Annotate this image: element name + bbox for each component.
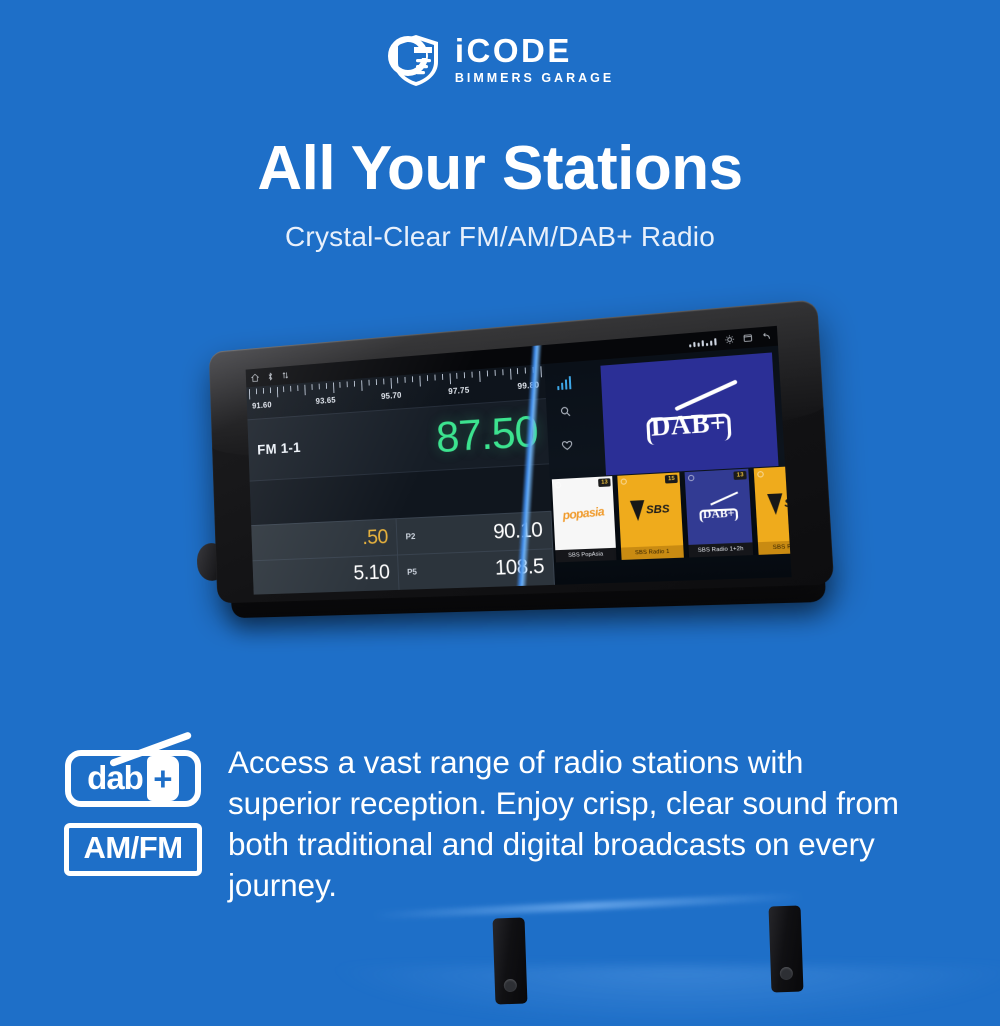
- frequency-tick: [479, 371, 480, 382]
- home-icon[interactable]: [251, 369, 259, 387]
- frequency-tick: [502, 369, 503, 375]
- preset-cell[interactable]: P5108.5: [398, 548, 555, 590]
- frequency-tick: [276, 387, 277, 397]
- amfm-badge: AM/FM: [64, 823, 201, 876]
- frequency-tick: [290, 386, 291, 392]
- station-badge: 13: [734, 471, 747, 480]
- dab-pane[interactable]: DAB+ 13popasiaSBS PopAsia15SBSSBS Radio …: [544, 346, 791, 585]
- bluetooth-icon[interactable]: [267, 368, 275, 386]
- frequency-tick: [419, 376, 420, 387]
- dab-plus-logo-icon: DAB+: [693, 492, 743, 522]
- preset-frequency: 108.5: [494, 555, 544, 581]
- frequency-tick: [525, 367, 526, 373]
- frequency-tick: [449, 373, 450, 384]
- shield-g-icon: [386, 32, 442, 88]
- dab-station-tile[interactable]: 15SBSSBS Radio 1: [617, 472, 684, 560]
- frequency-tick: [361, 380, 362, 391]
- frequency-tick: [434, 375, 435, 381]
- frequency-tick: [326, 383, 327, 389]
- feature-badges: dab + AM/FM: [58, 735, 208, 876]
- frequency-scale-label: 97.75: [448, 385, 470, 396]
- station-artwork: 13popasia: [552, 476, 616, 550]
- touchscreen[interactable]: 91.6093.6595.7097.7599.80 FM 1-1 87.50 .…: [246, 326, 792, 595]
- preset-grid[interactable]: .50P290.105.10P5108.5: [251, 511, 555, 595]
- frequency-tick: [487, 370, 488, 376]
- frequency-tick: [457, 373, 458, 379]
- frequency-tick: [256, 389, 257, 395]
- frequency-tick: [540, 366, 542, 377]
- frequency-tick: [464, 372, 465, 378]
- fm-tuner-pane[interactable]: 91.6093.6595.7097.7599.80 FM 1-1 87.50 .…: [246, 364, 555, 595]
- signal-bars-icon: [557, 376, 572, 390]
- station-name: SBS Radio 1: [621, 545, 684, 560]
- preset-number: P5: [407, 567, 417, 577]
- dab-station-tile[interactable]: 13popasiaSBS PopAsia: [552, 476, 617, 562]
- back-icon[interactable]: [761, 327, 772, 347]
- station-artwork: 15SBS: [617, 472, 683, 547]
- signal-dots-icon: [689, 337, 717, 347]
- frequency-scale-label: 99.80: [517, 379, 539, 391]
- frequency-tick: [368, 380, 369, 386]
- dab-badge-shell: dab +: [65, 750, 201, 807]
- window-icon[interactable]: [742, 328, 753, 347]
- station-name: SBS Radio 1+2h: [688, 542, 753, 557]
- dab-station-tile[interactable]: 13DAB+SBS Radio 1+2h: [685, 469, 754, 558]
- dab-logo-text: DAB+: [631, 406, 746, 444]
- frequency-tick: [427, 375, 428, 381]
- frequency-tick: [270, 387, 271, 393]
- frequency-tick: [304, 385, 305, 396]
- dab-side-toolbar[interactable]: [551, 376, 581, 457]
- frequency-tick: [510, 369, 511, 380]
- preset-cell[interactable]: P290.10: [396, 511, 553, 554]
- sbs-logo: SBS: [630, 499, 670, 521]
- frequency-tick: [405, 377, 406, 383]
- mounting-bracket-right: [769, 905, 804, 992]
- popasia-logo: popasia: [562, 504, 605, 522]
- frequency-tick: [472, 372, 473, 378]
- preset-frequency: 5.10: [353, 561, 390, 586]
- search-icon[interactable]: [559, 404, 572, 423]
- station-name: SBS PopAsia: [555, 548, 616, 563]
- preset-cell[interactable]: .50: [251, 518, 398, 560]
- station-status-dot: [687, 474, 694, 481]
- frequency-tick: [517, 368, 518, 374]
- frequency-tick: [318, 384, 319, 390]
- brand-header: iCODE BIMMERS GARAGE: [0, 32, 1000, 88]
- frequency-tick: [283, 386, 284, 392]
- station-badge: 13: [599, 478, 611, 487]
- brand-wordmark: iCODE BIMMERS GARAGE: [455, 34, 614, 86]
- frequency-scale-label: 91.60: [252, 400, 272, 411]
- frequency-tick: [390, 378, 391, 389]
- device-bezel: 91.6093.6595.7097.7599.80 FM 1-1 87.50 .…: [209, 299, 834, 603]
- frequency-tick: [333, 383, 334, 394]
- dab-plus-logo-icon: DAB+: [630, 381, 747, 448]
- station-status-dot: [554, 481, 560, 487]
- station-artwork: 14SBS: [754, 467, 791, 543]
- frequency-tick: [354, 381, 355, 387]
- device-body: 91.6093.6595.7097.7599.80 FM 1-1 87.50 .…: [202, 289, 852, 626]
- frequency-tick: [340, 382, 341, 388]
- frequency-tick: [533, 367, 534, 373]
- frequency-tick: [412, 376, 413, 382]
- dab-plus-badge: dab +: [65, 735, 201, 807]
- dab-now-playing-art: DAB+: [600, 352, 778, 475]
- brand-tagline: BIMMERS GARAGE: [455, 71, 614, 86]
- brightness-icon[interactable]: [724, 330, 735, 349]
- head-unit-product-image: 91.6093.6595.7097.7599.80 FM 1-1 87.50 .…: [178, 318, 828, 688]
- hero-section: All Your Stations Crystal-Clear FM/AM/DA…: [0, 136, 1000, 253]
- dab-badge-plus: +: [147, 756, 179, 801]
- frequency-tick: [397, 377, 398, 383]
- preset-frequency: 90.10: [493, 518, 543, 544]
- dab-badge-text: dab: [87, 761, 143, 797]
- frequency-scale-label: 93.65: [316, 395, 336, 406]
- preset-frequency: .50: [362, 525, 389, 550]
- dab-station-tiles[interactable]: 13popasiaSBS PopAsia15SBSSBS Radio 113DA…: [550, 467, 790, 563]
- dab-station-tile[interactable]: 14SBSSBS Radio 2: [754, 467, 791, 555]
- station-artwork: 13DAB+: [685, 469, 753, 545]
- frequency-tick: [263, 388, 264, 394]
- current-frequency: 87.50: [435, 407, 539, 463]
- frequency-tick: [494, 370, 495, 376]
- frequency-tick: [311, 384, 312, 390]
- preset-number: P2: [405, 531, 415, 541]
- frequency-tick: [249, 389, 250, 399]
- mounting-bracket-left: [493, 917, 528, 1004]
- frequency-tick: [442, 374, 443, 380]
- feature-description: Access a vast range of radio stations wi…: [228, 742, 908, 906]
- page-subtitle: Crystal-Clear FM/AM/DAB+ Radio: [0, 221, 1000, 253]
- station-status-dot: [620, 478, 626, 484]
- station-status-dot: [757, 470, 764, 477]
- sbs-logo: SBS: [767, 492, 790, 515]
- preset-cell[interactable]: 5.10: [252, 554, 399, 595]
- station-badge: 15: [665, 475, 677, 484]
- frequency-tick: [376, 379, 377, 385]
- brand-name: iCODE: [455, 34, 572, 68]
- frequency-tick: [347, 381, 348, 387]
- page-title: All Your Stations: [0, 136, 1000, 201]
- floor-reflection-glow: [328, 966, 1000, 1026]
- frequency-tick: [297, 385, 298, 391]
- frequency-scale-label: 95.70: [381, 390, 402, 401]
- favorite-heart-icon[interactable]: [561, 438, 574, 457]
- band-label: FM 1-1: [257, 439, 301, 458]
- transfer-icon[interactable]: [281, 367, 289, 385]
- frequency-tick: [383, 379, 384, 385]
